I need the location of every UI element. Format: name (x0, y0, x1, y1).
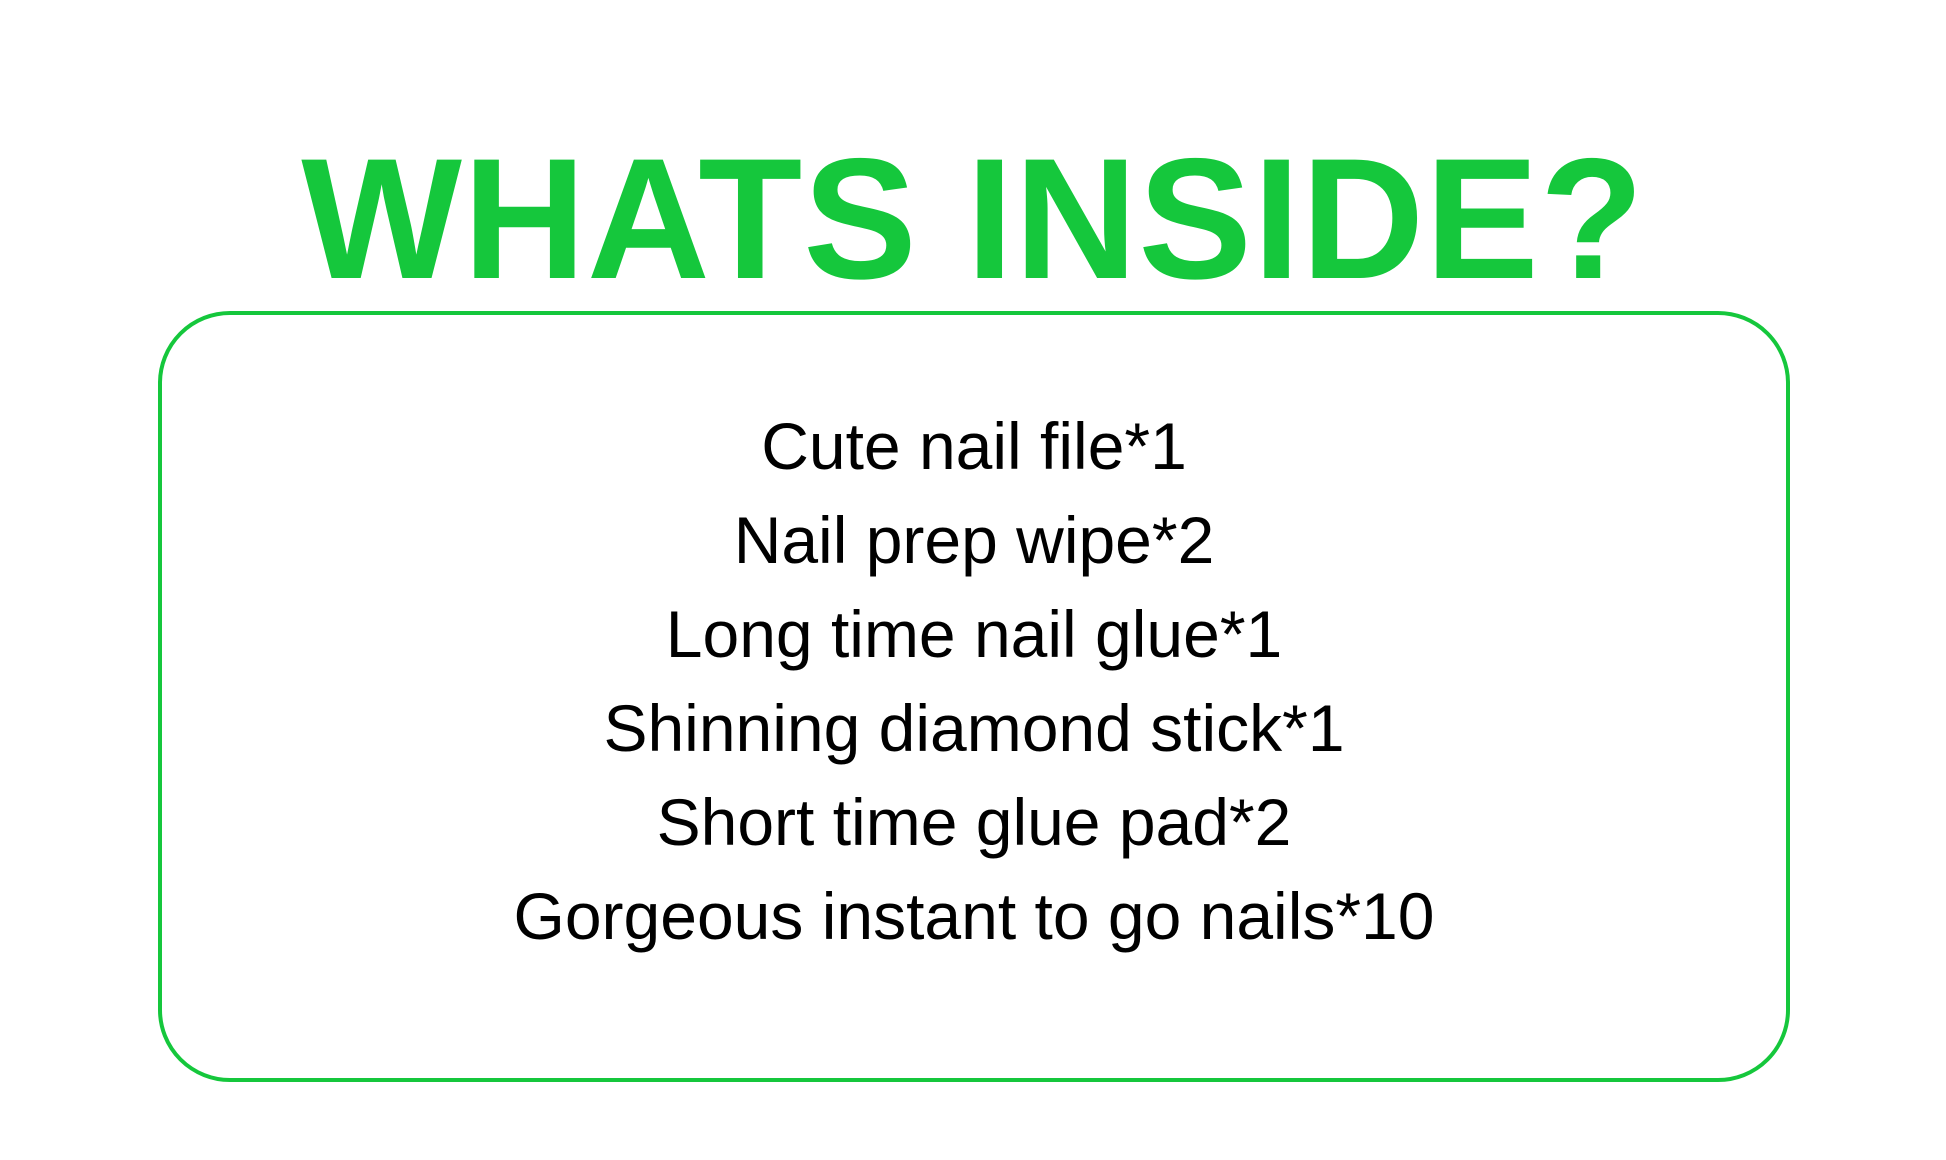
list-item: Long time nail glue*1 (666, 587, 1282, 681)
list-item: Cute nail file*1 (761, 399, 1187, 493)
list-item: Gorgeous instant to go nails*10 (514, 869, 1435, 963)
contents-card: Cute nail file*1 Nail prep wipe*2 Long t… (158, 311, 1790, 1082)
page-title: WHATS INSIDE? (10, 133, 1937, 305)
list-item: Nail prep wipe*2 (734, 493, 1215, 587)
contents-list: Cute nail file*1 Nail prep wipe*2 Long t… (162, 399, 1786, 963)
product-contents-graphic: WHATS INSIDE? Cute nail file*1 Nail prep… (0, 0, 1946, 1160)
list-item: Short time glue pad*2 (657, 775, 1292, 869)
list-item: Shinning diamond stick*1 (603, 681, 1344, 775)
